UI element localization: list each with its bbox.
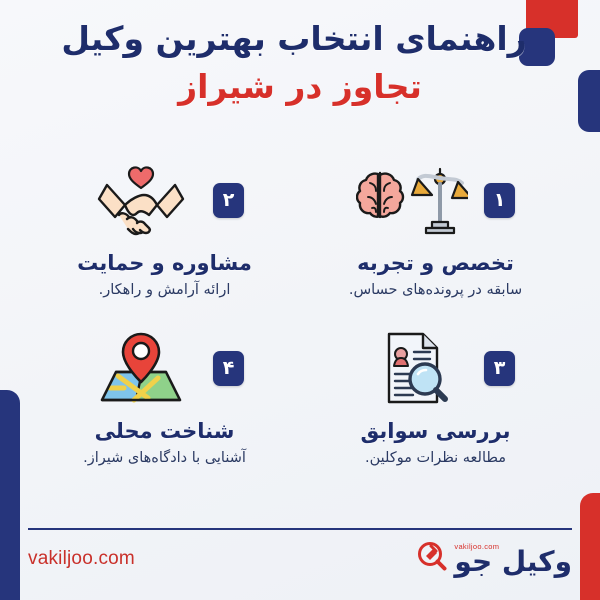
feature-1-subtitle: سابقه در پرونده‌های حساس. <box>349 281 522 300</box>
page-title-line2: تجاوز در شیراز <box>0 66 600 108</box>
brand-logo[interactable]: vakiljoo.com وکیل جو <box>415 540 572 578</box>
feature-4-subtitle: آشنایی با دادگاه‌های شیراز. <box>83 449 246 468</box>
feature-2-title: مشاوره و حمایت <box>77 250 252 276</box>
feature-1-number-badge: ۱ <box>484 183 515 218</box>
feature-1-head: ۱ <box>305 160 566 240</box>
feature-item-1: ۱ تخصص و تجربه سابقه در پرونده‌های حساس. <box>305 160 566 300</box>
feature-2-head: ۲ <box>34 160 295 240</box>
feature-1-title: تخصص و تجربه <box>357 250 514 276</box>
feature-4-head: ۴ <box>34 328 295 408</box>
feature-2-subtitle: ارائه آرامش و راهکار. <box>99 281 231 300</box>
feature-3-number-badge: ۳ <box>484 351 515 386</box>
feature-4-title: شناخت محلی <box>95 418 235 444</box>
poster-header: راهنمای انتخاب بهترین وکیل تجاوز در شیرا… <box>0 18 600 108</box>
feature-item-2: ۲ مشاوره و حمایت ارائه آرامش و راهکار. <box>34 160 295 300</box>
brand-name-fa: وکیل جو <box>454 548 572 576</box>
footer-divider <box>28 528 572 530</box>
footer-row: vakiljoo.com وکیل جو vakiljoo.com <box>28 540 572 578</box>
map-pin-icon <box>85 329 197 407</box>
feature-3-head: ۳ <box>305 328 566 408</box>
feature-4-number-badge: ۴ <box>213 351 244 386</box>
feature-grid: ۱ تخصص و تجربه سابقه در پرونده‌های حساس. <box>34 160 566 468</box>
feature-item-3: ۳ بررسی سوابق مطالعه نظرات موکلین. <box>305 328 566 468</box>
brand-text: vakiljoo.com وکیل جو <box>454 542 572 576</box>
feature-2-number-badge: ۲ <box>213 183 244 218</box>
decor-navy-bar-left <box>0 390 20 600</box>
feature-3-title: بررسی سوابق <box>360 418 510 444</box>
feature-3-subtitle: مطالعه نظرات موکلین. <box>365 449 506 468</box>
poster-footer: vakiljoo.com وکیل جو vakiljoo.com <box>28 528 572 578</box>
handshake-with-heart-icon <box>85 161 197 239</box>
page-title-line1: راهنمای انتخاب بهترین وکیل <box>0 18 600 60</box>
document-magnifier-icon <box>356 329 468 407</box>
brain-and-scales-icon <box>356 161 468 239</box>
decor-red-bar-bottom-right <box>580 493 600 600</box>
footer-website-url[interactable]: vakiljoo.com <box>28 548 135 570</box>
feature-item-4: ۴ شناخت محلی آشنایی با دادگاه‌های شیراز. <box>34 328 295 468</box>
infographic-poster: راهنمای انتخاب بهترین وکیل تجاوز در شیرا… <box>0 0 600 600</box>
gavel-magnifier-icon <box>415 540 449 578</box>
